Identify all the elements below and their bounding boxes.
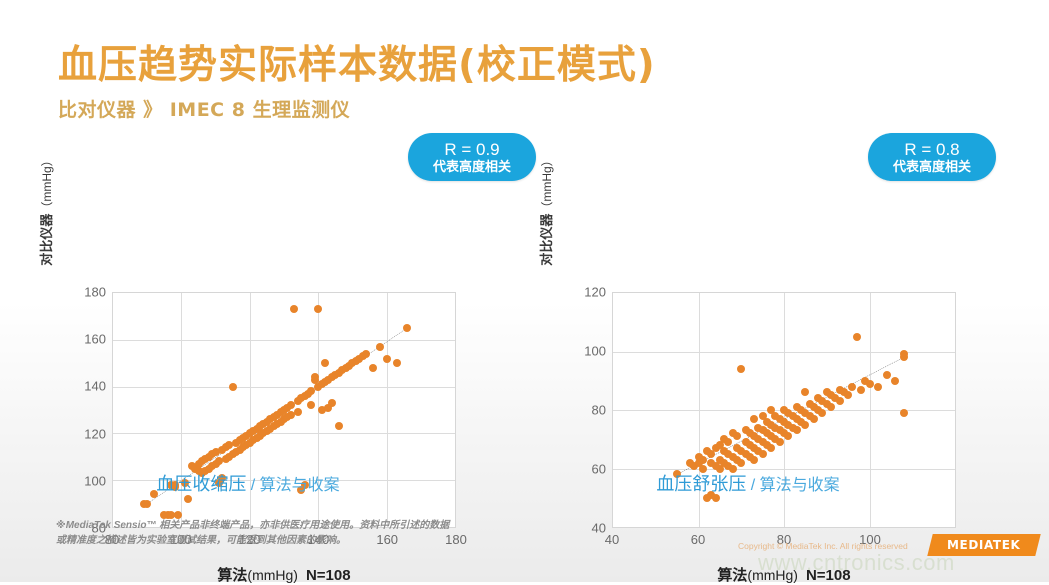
y-axis-label-unit: （mmHg） xyxy=(540,154,554,213)
y-tick-label: 100 xyxy=(564,344,606,359)
scatter-point xyxy=(883,371,891,379)
scatter-point xyxy=(184,495,192,503)
page-subtitle: 比对仪器 》 IMEC 8 生理监测仪 xyxy=(58,95,350,122)
caption-main: 血压舒张压 xyxy=(656,474,746,494)
scatter-point xyxy=(866,380,874,388)
scatter-point xyxy=(784,432,792,440)
x-tick-label: 40 xyxy=(605,532,619,547)
scatter-point xyxy=(143,500,151,508)
correlation-badge-diastolic: R = 0.8 代表高度相关 xyxy=(868,133,996,181)
scatter-point xyxy=(900,350,908,358)
scatter-point xyxy=(844,391,852,399)
correlation-value: R = 0.9 xyxy=(408,140,536,159)
scatter-point xyxy=(793,426,801,434)
disclaimer-line-2: 或精准度之描述皆为实验室测试结果，可能受到其他因素的影响。 xyxy=(56,533,576,548)
y-tick-label: 160 xyxy=(64,332,106,347)
chart-panel-diastolic: 对比仪器（mmHg） 406080100120 406080100120 算法(… xyxy=(536,140,1036,510)
scatter-point xyxy=(311,373,319,381)
scatter-point xyxy=(801,388,809,396)
x-tick-label: 60 xyxy=(691,532,705,547)
caption-sub: / 算法与收案 xyxy=(746,477,839,494)
y-axis-label-main: 对比仪器 xyxy=(539,214,554,266)
scatter-point xyxy=(836,397,844,405)
scatter-point xyxy=(818,409,826,417)
scatter-point xyxy=(874,383,882,391)
caption-main: 血压收缩压 xyxy=(156,474,246,494)
scatter-point xyxy=(776,438,784,446)
chart-panel-systolic: 对比仪器（mmHg） 80100120140160180 80100120140… xyxy=(36,140,536,510)
caption-diastolic: 血压舒张压 / 算法与收案 xyxy=(536,470,960,496)
scatter-point xyxy=(810,415,818,423)
scatter-point xyxy=(699,456,707,464)
scatter-point xyxy=(307,401,315,409)
scatter-point xyxy=(403,324,411,332)
y-axis-label: 对比仪器（mmHg） xyxy=(536,130,555,290)
scatter-point xyxy=(759,450,767,458)
y-axis-label: 对比仪器（mmHg） xyxy=(36,130,55,290)
y-tick-label: 140 xyxy=(64,379,106,394)
scatter-point xyxy=(900,409,908,417)
scatter-point xyxy=(891,377,899,385)
scatter-point xyxy=(294,408,302,416)
y-axis-label-unit: （mmHg） xyxy=(40,154,54,213)
slide-root: 血压趋势实际样本数据(校正模式) 比对仪器 》 IMEC 8 生理监测仪 对比仪… xyxy=(0,0,1049,582)
scatter-point xyxy=(321,359,329,367)
disclaimer-line-1: ※MediaTek Sensio™ 相关产品非终端产品，亦非供医疗用途使用。资料… xyxy=(56,518,576,533)
correlation-value: R = 0.8 xyxy=(868,140,996,159)
scatter-point xyxy=(848,383,856,391)
scatter-point xyxy=(724,438,732,446)
scatter-point xyxy=(229,383,237,391)
scatter-point xyxy=(853,333,861,341)
scatter-point xyxy=(314,305,322,313)
scatter-point xyxy=(801,421,809,429)
y-tick-label: 120 xyxy=(64,426,106,441)
scatter-point xyxy=(737,365,745,373)
x-axis-label-main: 算法 xyxy=(717,567,747,584)
mediatek-logo-text: MEDIATEK xyxy=(947,538,1020,552)
scatter-point xyxy=(393,359,401,367)
scatter-point xyxy=(362,350,370,358)
x-axis-label-unit: (mmHg) xyxy=(247,567,298,583)
scatter-point xyxy=(383,355,391,363)
scatter-point xyxy=(376,343,384,351)
scatter-point xyxy=(369,364,377,372)
scatter-point xyxy=(750,456,758,464)
scatter-point xyxy=(737,459,745,467)
disclaimer-text: ※MediaTek Sensio™ 相关产品非终端产品，亦非供医疗用途使用。资料… xyxy=(56,518,576,548)
y-tick-label: 120 xyxy=(564,285,606,300)
y-tick-label: 180 xyxy=(64,285,106,300)
scatter-point xyxy=(290,305,298,313)
scatter-point xyxy=(857,386,865,394)
scatter-point xyxy=(733,432,741,440)
x-axis-label-main: 算法 xyxy=(217,567,247,584)
correlation-description: 代表高度相关 xyxy=(868,159,996,175)
x-axis-sample-count: N=108 xyxy=(306,567,351,584)
scatter-point xyxy=(328,399,336,407)
y-tick-label: 80 xyxy=(564,403,606,418)
scatter-point xyxy=(335,422,343,430)
caption-sub: / 算法与收案 xyxy=(246,477,339,494)
scatter-point xyxy=(750,415,758,423)
scatter-point xyxy=(827,403,835,411)
page-title: 血压趋势实际样本数据(校正模式) xyxy=(58,34,656,90)
site-watermark: www.cntronics.com xyxy=(758,550,955,576)
correlation-badge-systolic: R = 0.9 代表高度相关 xyxy=(408,133,536,181)
caption-systolic: 血压收缩压 / 算法与收案 xyxy=(36,470,460,496)
correlation-description: 代表高度相关 xyxy=(408,159,536,175)
scatter-point xyxy=(767,444,775,452)
y-axis-label-main: 对比仪器 xyxy=(39,214,54,266)
